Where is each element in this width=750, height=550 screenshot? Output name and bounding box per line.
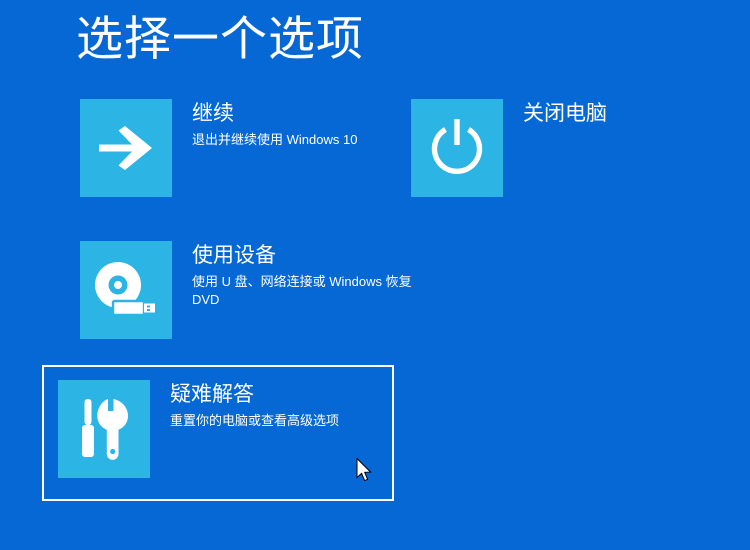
choose-an-option-screen: 选择一个选项 继续 退出并继续使用 Windows 10 关闭电脑	[0, 0, 750, 550]
option-continue[interactable]: 继续 退出并继续使用 Windows 10	[80, 99, 410, 197]
continue-text-block: 继续 退出并继续使用 Windows 10	[192, 99, 357, 149]
option-use-a-device[interactable]: 使用设备 使用 U 盘、网络连接或 Windows 恢复 DVD	[80, 241, 420, 339]
shutdown-text-block: 关闭电脑	[523, 99, 607, 131]
option-title: 使用设备	[192, 243, 420, 269]
continue-tile	[80, 99, 172, 197]
arrow-right-icon	[99, 126, 153, 170]
power-icon	[429, 119, 485, 177]
troubleshoot-tile	[58, 380, 150, 478]
option-turn-off-pc[interactable]: 关闭电脑	[411, 99, 731, 197]
page-title: 选择一个选项	[76, 8, 364, 70]
option-title: 继续	[192, 101, 357, 127]
option-troubleshoot[interactable]: 疑难解答 重置你的电脑或查看高级选项	[42, 365, 394, 501]
option-title: 疑难解答	[170, 382, 339, 408]
option-description: 退出并继续使用 Windows 10	[192, 131, 357, 149]
option-title: 关闭电脑	[523, 101, 607, 127]
use-device-text-block: 使用设备 使用 U 盘、网络连接或 Windows 恢复 DVD	[192, 241, 420, 309]
troubleshoot-text-block: 疑难解答 重置你的电脑或查看高级选项	[170, 380, 339, 430]
use-device-tile	[80, 241, 172, 339]
disc-usb-icon	[94, 261, 158, 319]
option-description: 使用 U 盘、网络连接或 Windows 恢复 DVD	[192, 273, 420, 309]
screwdriver-wrench-icon	[75, 398, 133, 460]
shutdown-tile	[411, 99, 503, 197]
option-description: 重置你的电脑或查看高级选项	[170, 412, 339, 430]
